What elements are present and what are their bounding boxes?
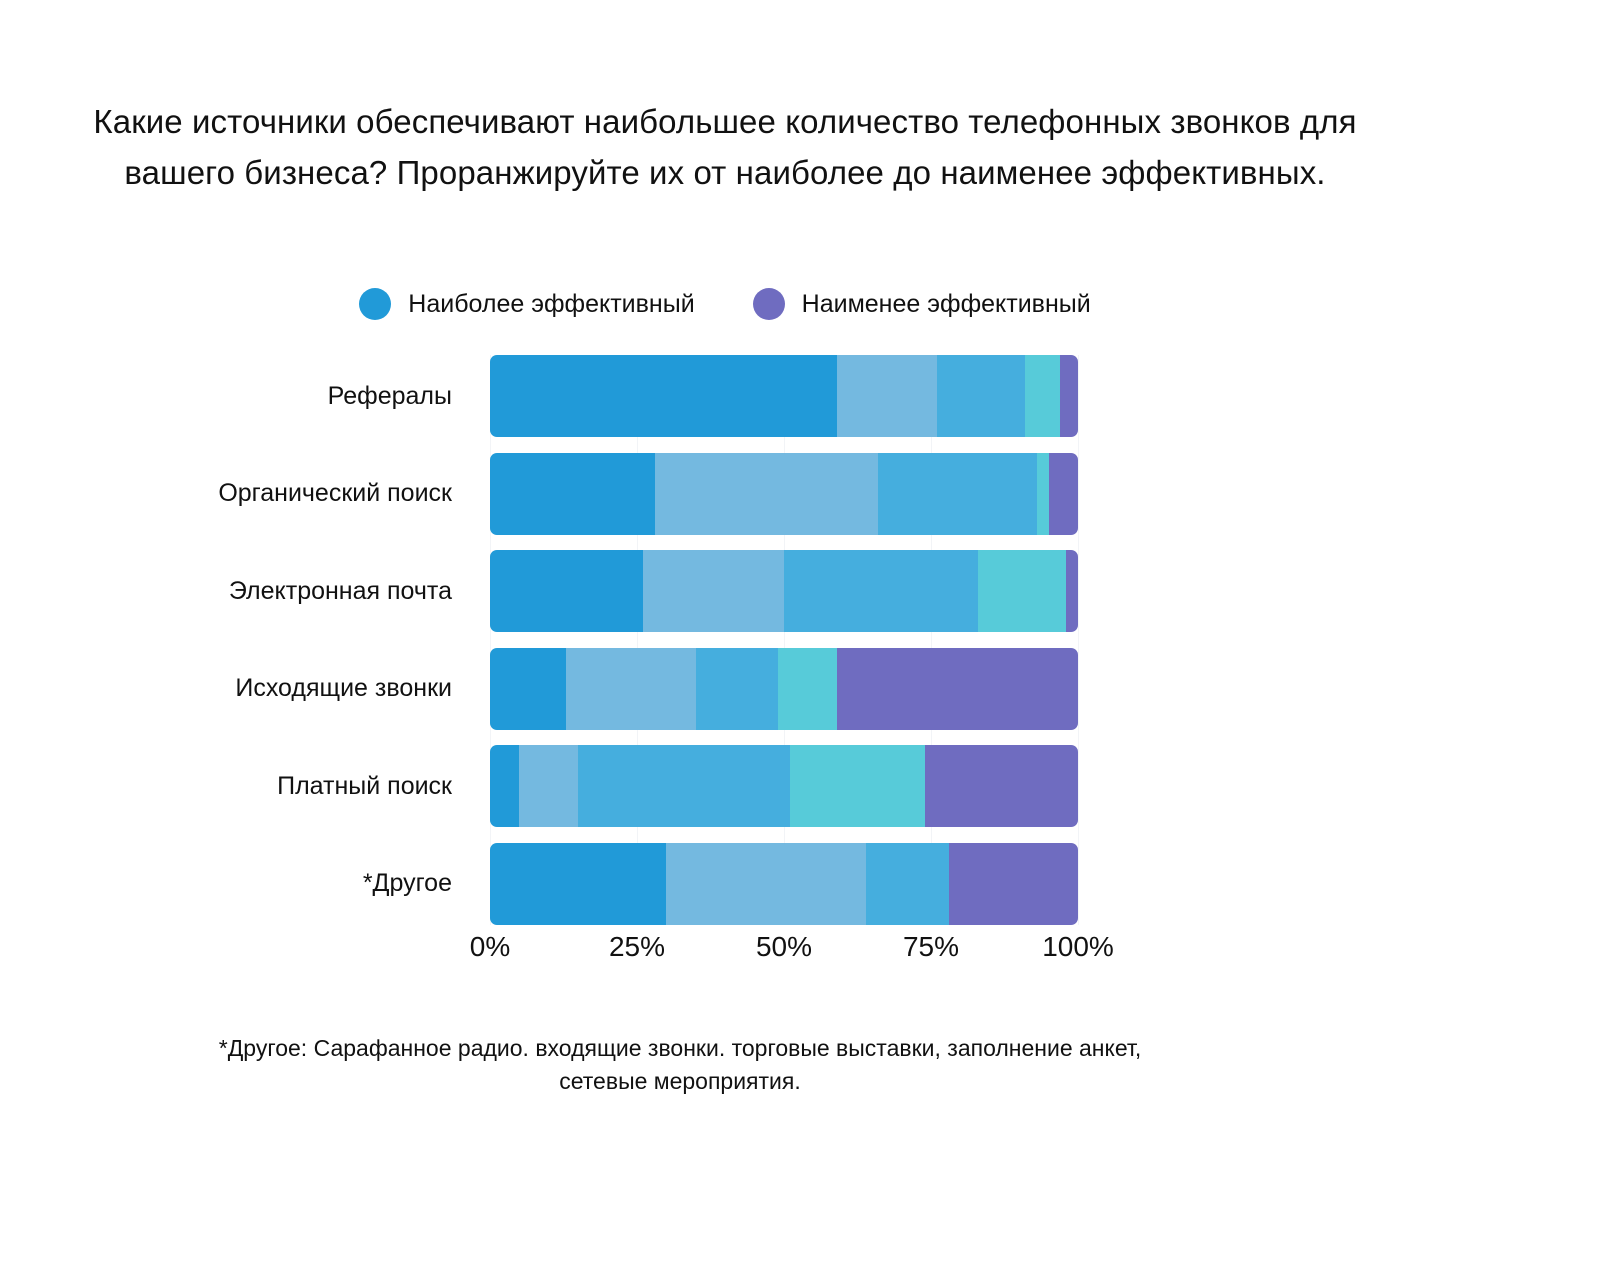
- bar-row[interactable]: [490, 550, 1078, 632]
- legend-label-least-effective: Наименее эффективный: [802, 290, 1091, 319]
- bar-segment[interactable]: [837, 355, 937, 437]
- x-tick-75: 75%: [903, 931, 959, 963]
- x-tick-0: 0%: [470, 931, 510, 963]
- legend-item-least-effective: Наименее эффективный: [753, 288, 1091, 320]
- bar-segment[interactable]: [837, 648, 1078, 730]
- bar-segment[interactable]: [1025, 355, 1060, 437]
- bar-segment[interactable]: [784, 550, 978, 632]
- legend-swatch-most-effective: [359, 288, 391, 320]
- bar-segment[interactable]: [490, 843, 666, 925]
- x-tick-100: 100%: [1042, 931, 1114, 963]
- bar-row[interactable]: [490, 745, 1078, 827]
- bar-row[interactable]: [490, 355, 1078, 437]
- x-tick-25: 25%: [609, 931, 665, 963]
- bar-segment[interactable]: [1049, 453, 1078, 535]
- y-axis-label-5: *Другое: [150, 843, 470, 925]
- bar-segment[interactable]: [490, 453, 655, 535]
- y-axis-label-2: Электронная почта: [150, 550, 470, 632]
- bar-segment[interactable]: [666, 843, 866, 925]
- bar-segment[interactable]: [490, 355, 837, 437]
- bar-track: [490, 355, 1078, 437]
- bar-segment[interactable]: [937, 355, 1025, 437]
- bar-segment[interactable]: [925, 745, 1078, 827]
- bar-segment[interactable]: [566, 648, 695, 730]
- bar-segment[interactable]: [978, 550, 1066, 632]
- y-axis-label-0: Рефералы: [150, 355, 470, 437]
- bar-track: [490, 745, 1078, 827]
- bar-segment[interactable]: [866, 843, 948, 925]
- bar-segment[interactable]: [1037, 453, 1049, 535]
- chart-plot-area: [490, 355, 1078, 925]
- bar-row[interactable]: [490, 648, 1078, 730]
- y-axis-label-3: Исходящие звонки: [150, 648, 470, 730]
- page-title: Какие источники обеспечивают наибольшее …: [80, 96, 1370, 198]
- bar-segment[interactable]: [490, 745, 519, 827]
- bar-segment[interactable]: [790, 745, 925, 827]
- bar-segment[interactable]: [490, 550, 643, 632]
- bar-segment[interactable]: [696, 648, 778, 730]
- bar-row[interactable]: [490, 843, 1078, 925]
- bar-segment[interactable]: [949, 843, 1078, 925]
- x-axis-tick-labels: 0%25%50%75%100%: [490, 931, 1078, 971]
- gridline-100: [1078, 355, 1079, 925]
- bar-row[interactable]: [490, 453, 1078, 535]
- bar-segment[interactable]: [878, 453, 1037, 535]
- bar-track: [490, 550, 1078, 632]
- legend-item-most-effective: Наиболее эффективный: [359, 288, 694, 320]
- y-axis-category-labels: РефералыОрганический поискЭлектронная по…: [150, 355, 470, 925]
- bar-segment[interactable]: [490, 648, 566, 730]
- footnote: *Другое: Сарафанное радио. входящие звон…: [200, 1032, 1160, 1098]
- legend-label-most-effective: Наиболее эффективный: [408, 290, 694, 319]
- y-axis-label-4: Платный поиск: [150, 745, 470, 827]
- stacked-bars: [490, 355, 1078, 925]
- bar-segment[interactable]: [1066, 550, 1078, 632]
- bar-segment[interactable]: [1060, 355, 1078, 437]
- bar-segment[interactable]: [643, 550, 784, 632]
- bar-segment[interactable]: [519, 745, 578, 827]
- bar-track: [490, 453, 1078, 535]
- bar-segment[interactable]: [778, 648, 837, 730]
- bar-track: [490, 843, 1078, 925]
- y-axis-label-1: Органический поиск: [150, 453, 470, 535]
- bar-segment[interactable]: [655, 453, 878, 535]
- bar-track: [490, 648, 1078, 730]
- legend-swatch-least-effective: [753, 288, 785, 320]
- chart-legend: Наиболее эффективный Наименее эффективны…: [80, 288, 1370, 320]
- bar-segment[interactable]: [578, 745, 790, 827]
- x-tick-50: 50%: [756, 931, 812, 963]
